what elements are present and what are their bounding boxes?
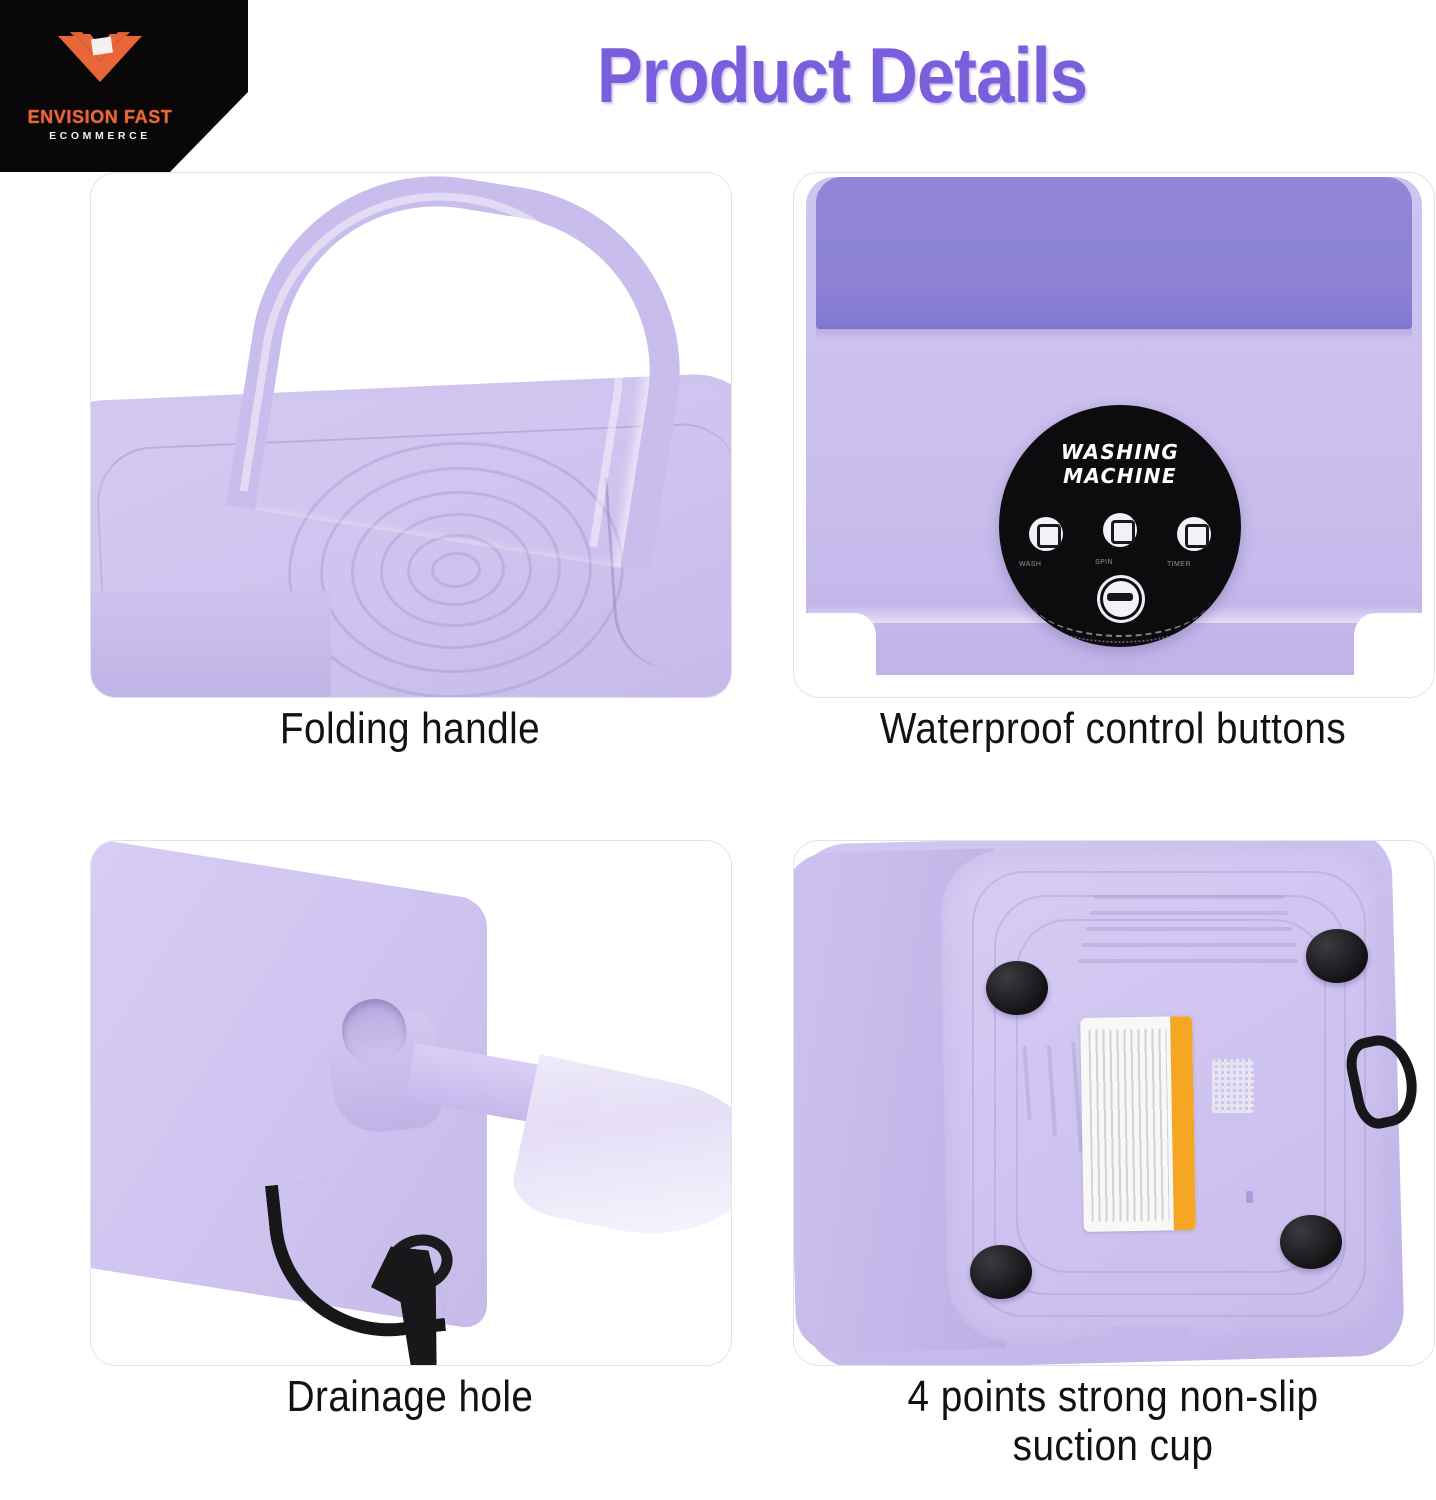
photo-frame: WASHING MACHINE WASH SPIN TIMER (793, 172, 1435, 698)
base-notch-right-shape (1354, 613, 1424, 677)
control-panel-title: WASHING MACHINE (999, 441, 1241, 488)
lid-shadow-shape (816, 325, 1412, 339)
page-header: ENVISION FAST ECOMMERCE Product Details (0, 0, 1436, 172)
control-panel-title-line-1: WASHING (1061, 440, 1179, 464)
label-text-lines (1088, 1028, 1169, 1221)
wash-mode-button[interactable] (1029, 517, 1063, 551)
detail-panel-folding-handle: Folding handle (90, 172, 730, 792)
vent-slot (1082, 943, 1296, 947)
vent-slot (1094, 895, 1284, 899)
detail-panel-control-buttons: WASHING MACHINE WASH SPIN TIMER Waterpro… (793, 172, 1433, 792)
photo-control-buttons: WASHING MACHINE WASH SPIN TIMER (794, 173, 1434, 697)
brand-badge: ENVISION FAST ECOMMERCE (0, 0, 248, 172)
machine-body-edge-shape (90, 591, 331, 698)
panel-caption: Folding handle (128, 704, 691, 753)
spin-mode-label: SPIN (1095, 559, 1113, 566)
brand-name: ENVISION FAST (28, 108, 173, 126)
suction-cup[interactable] (1280, 1215, 1342, 1269)
brand-lockup: ENVISION FAST ECOMMERCE (0, 0, 200, 172)
qr-code-sticker (1212, 1059, 1254, 1113)
product-detail-grid: Folding handle WASHING MACHINE (0, 172, 1436, 1500)
vent-slot (1078, 959, 1298, 963)
wash-mode-label: WASH (1019, 561, 1041, 568)
base-notch-left-shape (806, 613, 876, 677)
vent-slot (1090, 911, 1288, 915)
base-screw-mark (1246, 1191, 1253, 1203)
rating-label (1080, 1016, 1196, 1232)
machine-lid-shape (816, 177, 1412, 329)
photo-folding-handle (91, 173, 731, 697)
panel-caption-line-1: 4 points strong non-slip (908, 1372, 1319, 1421)
panel-caption: Waterproof control buttons (831, 704, 1394, 753)
timer-button[interactable] (1177, 517, 1211, 551)
label-orange-stripe (1170, 1016, 1196, 1230)
photo-frame (90, 840, 732, 1366)
panel-caption: Drainage hole (128, 1372, 691, 1421)
panel-caption: 4 points strong non-slip suction cup (831, 1372, 1394, 1471)
photo-frame (793, 840, 1435, 1366)
photo-frame (90, 172, 732, 698)
vent-slot (1086, 927, 1292, 931)
photo-suction-cup-base (794, 841, 1434, 1365)
suction-cup[interactable] (1306, 929, 1368, 983)
suction-cup[interactable] (986, 961, 1048, 1015)
chevron-logo-mark-icon (52, 30, 148, 106)
panel-caption-line-2: suction cup (1013, 1421, 1214, 1470)
suction-cup[interactable] (970, 1245, 1032, 1299)
detail-panel-suction-cup: 4 points strong non-slip suction cup (793, 840, 1433, 1460)
power-drain-button[interactable] (1103, 581, 1139, 617)
photo-drainage-hole (91, 841, 731, 1365)
timer-label: TIMER (1167, 561, 1191, 568)
water-stream-shape (507, 1054, 732, 1256)
brand-tagline: ECOMMERCE (49, 131, 151, 142)
control-panel-title-line-2: MACHINE (1063, 464, 1177, 488)
page-title: Product Details (319, 36, 1364, 114)
base-foot-shape (1112, 1327, 1190, 1355)
detail-panel-drainage-hole: Drainage hole (90, 840, 730, 1460)
control-panel[interactable]: WASHING MACHINE WASH SPIN TIMER (999, 405, 1241, 647)
spin-mode-button[interactable] (1103, 513, 1137, 547)
